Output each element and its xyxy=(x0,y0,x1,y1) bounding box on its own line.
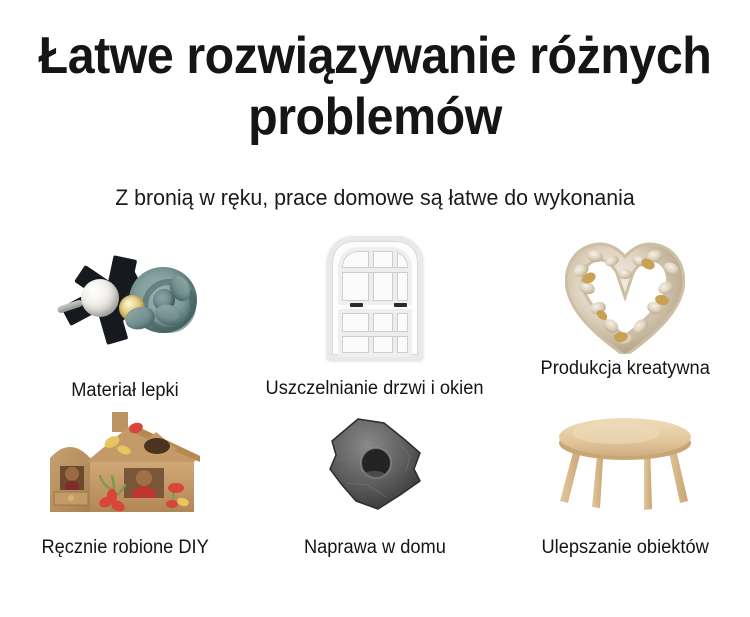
feature-cell-object-improvement[interactable]: Ulepszanie obiektów xyxy=(500,401,750,558)
feature-cell-creative-production[interactable]: Produkcja kreatywna xyxy=(500,232,750,401)
feature-label: Materiał lepki xyxy=(71,380,178,401)
feature-image-home-repair xyxy=(275,405,475,525)
feature-grid: Materiał lepki xyxy=(0,232,750,559)
feature-image-door-window-sealing xyxy=(275,232,475,364)
arched-window-icon xyxy=(327,236,423,360)
feature-cell-sticky-material[interactable]: Materiał lepki xyxy=(0,232,250,401)
heart-wreath-icon xyxy=(565,242,685,354)
feature-label: Produkcja kreatywna xyxy=(540,358,709,379)
flower-brooch-icon xyxy=(55,243,195,353)
feature-cell-home-repair[interactable]: Naprawa w domu xyxy=(250,401,500,558)
feature-label: Naprawa w domu xyxy=(304,537,446,558)
stone-with-hole-icon xyxy=(316,413,434,517)
feature-image-handmade-diy xyxy=(25,405,225,525)
page-subtitle: Z bronią w ręku, prace domowe są łatwe d… xyxy=(11,185,739,211)
feature-image-creative-production xyxy=(525,232,725,364)
feature-cell-door-window-sealing[interactable]: Uszczelnianie drzwi i okien xyxy=(250,232,500,401)
page-title: Łatwe rozwiązywanie różnych problemów xyxy=(26,26,724,149)
feature-image-object-improvement xyxy=(525,405,725,525)
feature-label: Ręcznie robione DIY xyxy=(41,537,208,558)
feature-label: Ulepszanie obiektów xyxy=(541,537,708,558)
feature-cell-handmade-diy[interactable]: Ręcznie robione DIY xyxy=(0,401,250,558)
round-wooden-table-icon xyxy=(546,409,704,521)
feature-row: Materiał lepki xyxy=(0,232,750,401)
feature-image-sticky-material xyxy=(25,232,225,364)
promo-banner: Łatwe rozwiązywanie różnych problemów Z … xyxy=(0,0,750,617)
cardboard-house-icon xyxy=(40,406,210,524)
feature-row: Ręcznie robione DIY xyxy=(0,401,750,558)
feature-label: Uszczelnianie drzwi i okien xyxy=(266,378,484,399)
